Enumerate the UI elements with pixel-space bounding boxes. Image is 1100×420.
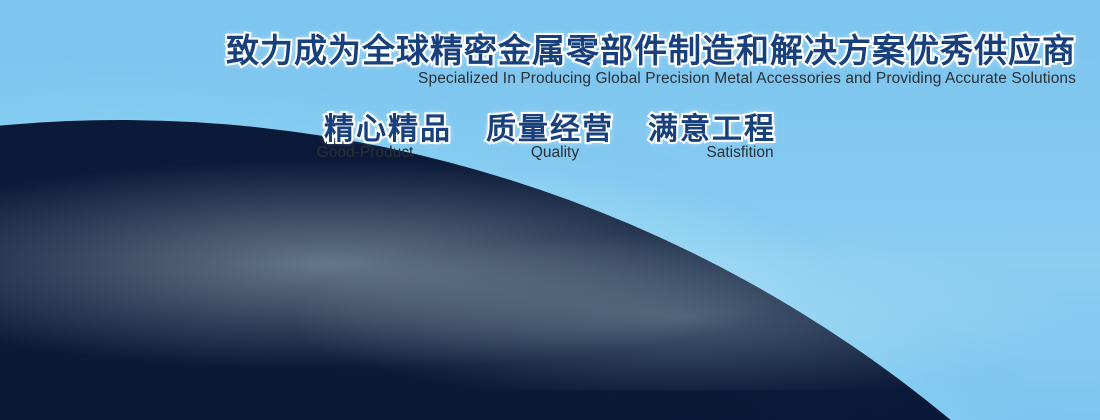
earth-globe: [0, 0, 1100, 420]
earth-cloud-streaks: [0, 0, 1100, 420]
earth-terminator-shadow: [0, 0, 1100, 420]
earth-terrain-texture: [0, 0, 1100, 420]
hero-banner: 致力成为全球精密金属零部件制造和解决方案优秀供应商 Specialized In…: [0, 0, 1100, 420]
earth-image: [0, 0, 1100, 420]
